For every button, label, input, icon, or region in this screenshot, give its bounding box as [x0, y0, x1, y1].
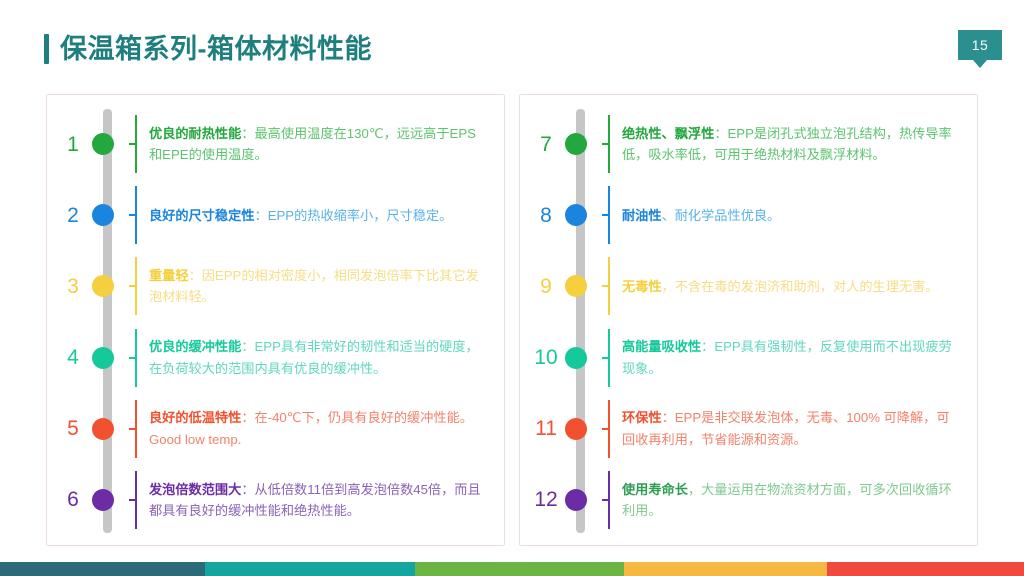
brace-icon: [597, 115, 613, 173]
item-number: 7: [524, 134, 568, 155]
list-item[interactable]: 11环保性：EPP是非交联发泡体，无毒、100% 可降解，可回收再利用，节省能源…: [520, 400, 963, 458]
item-number: 6: [51, 489, 95, 510]
item-text: 绝热性、飘浮性：EPP是闭孔式独立泡孔结构，热传导率低，吸水率低，可用于绝热材料…: [613, 123, 963, 166]
item-separator: ：: [241, 126, 254, 141]
bottom-bar-segment: [205, 562, 415, 576]
item-number: 3: [51, 276, 95, 297]
brace-icon: [597, 257, 613, 315]
brace-icon: [597, 186, 613, 244]
item-text: 高能量吸收性：EPP具有强韧性，反复使用而不出现疲劳现象。: [613, 336, 963, 379]
right-item-list: 7绝热性、飘浮性：EPP是闭孔式独立泡孔结构，热传导率低，吸水率低，可用于绝热材…: [520, 95, 977, 545]
item-separator: ：: [241, 410, 254, 425]
timeline-dot-icon: [565, 275, 587, 297]
item-body: 耐化学品性优良。: [675, 208, 781, 223]
brace-icon: [124, 471, 140, 529]
bottom-bar-segment: [0, 562, 205, 576]
item-heading: 高能量吸收性: [622, 339, 701, 354]
item-separator: 、: [662, 208, 675, 223]
timeline-dot-icon: [92, 275, 114, 297]
brace-icon: [124, 329, 140, 387]
brace-icon: [124, 400, 140, 458]
brace-icon: [124, 186, 140, 244]
item-separator: ：: [241, 339, 254, 354]
bottom-bar-segment: [624, 562, 827, 576]
item-text: 耐油性、耐化学品性优良。: [613, 205, 963, 226]
item-heading: 优良的耐热性能: [149, 126, 241, 141]
item-heading: 耐油性: [622, 208, 662, 223]
list-item[interactable]: 10高能量吸收性：EPP具有强韧性，反复使用而不出现疲劳现象。: [520, 329, 963, 387]
list-item[interactable]: 1优良的耐热性能：最高使用温度在130℃，远远高于EPS和EPE的使用温度。: [47, 115, 490, 173]
list-item[interactable]: 3重量轻：因EPP的相对密度小，相同发泡倍率下比其它发泡材料轻。: [47, 257, 490, 315]
item-text: 良好的低温特性：在-40℃下，仍具有良好的缓冲性能。Good low temp.: [140, 407, 490, 450]
timeline-dot-icon: [92, 133, 114, 155]
timeline-dot-icon: [565, 418, 587, 440]
left-item-list: 1优良的耐热性能：最高使用温度在130℃，远远高于EPS和EPE的使用温度。2良…: [47, 95, 504, 545]
item-number: 4: [51, 347, 95, 368]
list-item[interactable]: 7绝热性、飘浮性：EPP是闭孔式独立泡孔结构，热传导率低，吸水率低，可用于绝热材…: [520, 115, 963, 173]
item-number: 9: [524, 276, 568, 297]
list-item[interactable]: 9无毒性，不含在毒的发泡济和助剂，对人的生理无害。: [520, 257, 963, 315]
item-separator: ：: [241, 482, 254, 497]
bottom-bar-segment: [415, 562, 624, 576]
item-heading: 绝热性、飘浮性: [622, 126, 714, 141]
item-separator: ：: [714, 126, 727, 141]
timeline-dot-icon: [92, 204, 114, 226]
content-columns: 1优良的耐热性能：最高使用温度在130℃，远远高于EPS和EPE的使用温度。2良…: [46, 94, 978, 546]
item-heading: 良好的低温特性: [149, 410, 241, 425]
item-separator: ：: [662, 410, 675, 425]
timeline-dot-icon: [565, 489, 587, 511]
page-number-badge: 15: [958, 30, 1002, 68]
page-title: 保温箱系列-箱体材料性能: [44, 34, 372, 64]
item-separator: ，: [662, 279, 675, 294]
item-text: 使用寿命长，大量运用在物流资材方面，可多次回收循环利用。: [613, 479, 963, 522]
timeline-dot-icon: [565, 133, 587, 155]
item-heading: 使用寿命长: [622, 482, 688, 497]
item-number: 10: [524, 347, 568, 368]
timeline-dot-icon: [92, 489, 114, 511]
item-number: 12: [524, 489, 568, 510]
brace-icon: [124, 257, 140, 315]
item-heading: 良好的尺寸稳定性: [149, 208, 255, 223]
right-card: 7绝热性、飘浮性：EPP是闭孔式独立泡孔结构，热传导率低，吸水率低，可用于绝热材…: [519, 94, 978, 546]
item-heading: 优良的缓冲性能: [149, 339, 241, 354]
item-number: 8: [524, 205, 568, 226]
item-body: EPP的热收缩率小，尺寸稳定。: [268, 208, 453, 223]
item-text: 环保性：EPP是非交联发泡体，无毒、100% 可降解，可回收再利用，节省能源和资…: [613, 407, 963, 450]
item-number: 1: [51, 134, 95, 155]
item-number: 11: [524, 418, 568, 439]
item-body: 不含在毒的发泡济和助剂，对人的生理无害。: [675, 279, 939, 294]
item-text: 优良的耐热性能：最高使用温度在130℃，远远高于EPS和EPE的使用温度。: [140, 123, 490, 166]
item-separator: ：: [189, 268, 202, 283]
title-text: 保温箱系列-箱体材料性能: [60, 36, 372, 63]
brace-icon: [597, 400, 613, 458]
timeline-dot-icon: [92, 347, 114, 369]
bottom-color-bar: [0, 562, 1024, 576]
list-item[interactable]: 4优良的缓冲性能：EPP具有非常好的韧性和适当的硬度，在负荷较大的范围内具有优良…: [47, 329, 490, 387]
list-item[interactable]: 8耐油性、耐化学品性优良。: [520, 186, 963, 244]
list-item[interactable]: 5良好的低温特性：在-40℃下，仍具有良好的缓冲性能。Good low temp…: [47, 400, 490, 458]
item-text: 优良的缓冲性能：EPP具有非常好的韧性和适当的硬度，在负荷较大的范围内具有优良的…: [140, 336, 490, 379]
item-heading: 发泡倍数范围大: [149, 482, 241, 497]
brace-icon: [597, 329, 613, 387]
item-text: 良好的尺寸稳定性：EPP的热收缩率小，尺寸稳定。: [140, 205, 490, 226]
title-accent-bar: [44, 34, 49, 64]
item-text: 无毒性，不含在毒的发泡济和助剂，对人的生理无害。: [613, 276, 963, 297]
item-separator: ：: [701, 339, 714, 354]
brace-icon: [597, 471, 613, 529]
brace-icon: [124, 115, 140, 173]
left-card: 1优良的耐热性能：最高使用温度在130℃，远远高于EPS和EPE的使用温度。2良…: [46, 94, 505, 546]
item-heading: 环保性: [622, 410, 662, 425]
item-number: 2: [51, 205, 95, 226]
item-separator: ：: [255, 208, 268, 223]
badge-pointer-icon: [973, 60, 987, 68]
item-heading: 无毒性: [622, 279, 662, 294]
page-number-value: 15: [958, 30, 1002, 60]
item-separator: ，: [688, 482, 701, 497]
list-item[interactable]: 6发泡倍数范围大：从低倍数11倍到高发泡倍数45倍，而且都具有良好的缓冲性能和绝…: [47, 471, 490, 529]
list-item[interactable]: 2良好的尺寸稳定性：EPP的热收缩率小，尺寸稳定。: [47, 186, 490, 244]
item-text: 重量轻：因EPP的相对密度小，相同发泡倍率下比其它发泡材料轻。: [140, 265, 490, 308]
item-text: 发泡倍数范围大：从低倍数11倍到高发泡倍数45倍，而且都具有良好的缓冲性能和绝热…: [140, 479, 490, 522]
timeline-dot-icon: [565, 204, 587, 226]
list-item[interactable]: 12使用寿命长，大量运用在物流资材方面，可多次回收循环利用。: [520, 471, 963, 529]
timeline-dot-icon: [565, 347, 587, 369]
item-number: 5: [51, 418, 95, 439]
timeline-dot-icon: [92, 418, 114, 440]
item-heading: 重量轻: [149, 268, 189, 283]
bottom-bar-segment: [827, 562, 1024, 576]
